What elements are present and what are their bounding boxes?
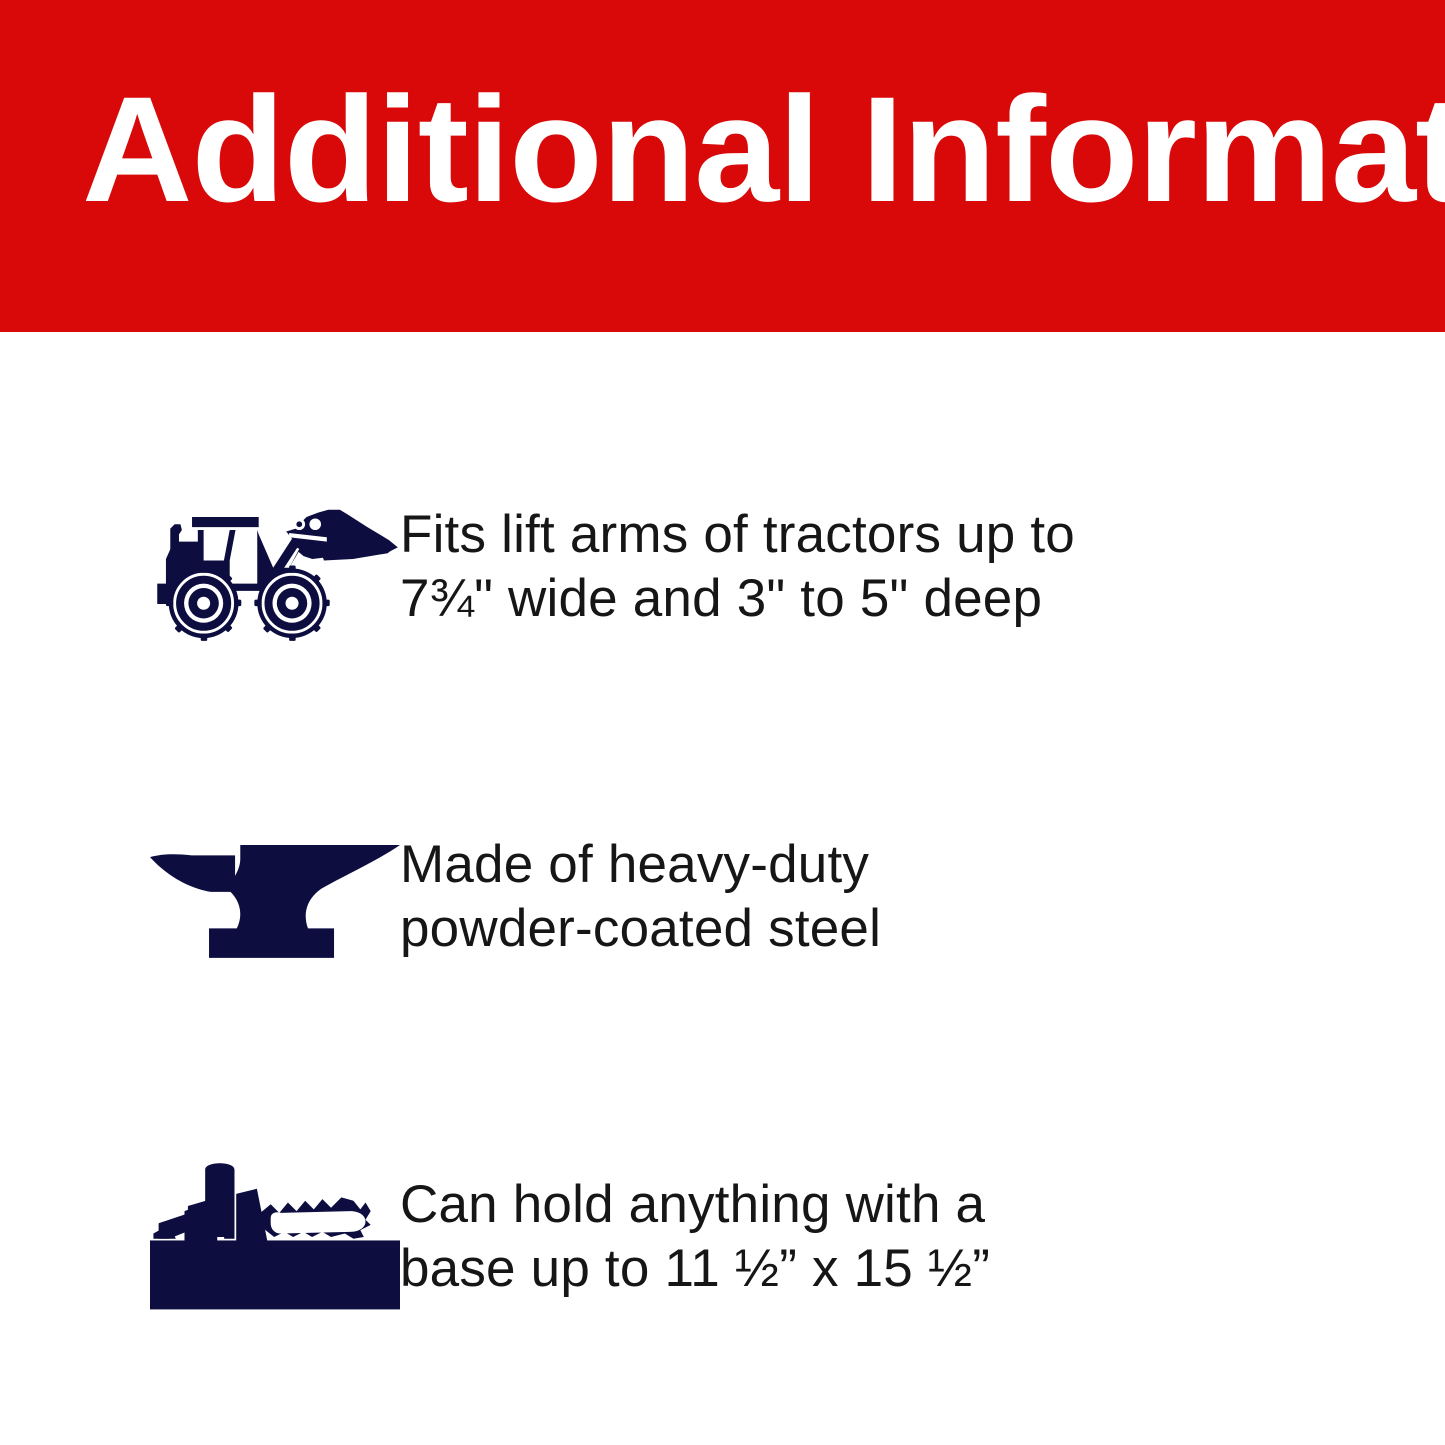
feature-row: Can hold anything with a base up to 11 ½… <box>0 1122 1445 1352</box>
feature-text-line: Fits lift arms of tractors up to <box>400 503 1445 567</box>
feature-text: Fits lift arms of tractors up to 7¾" wid… <box>400 503 1445 631</box>
additional-information-page: Additional Information <box>0 0 1445 1445</box>
feature-text-line: 7¾" wide and 3" to 5" deep <box>400 567 1445 631</box>
page-title: Additional Information <box>82 74 1398 224</box>
feature-text: Can hold anything with a base up to 11 ½… <box>400 1173 1445 1301</box>
feature-row: Fits lift arms of tractors up to 7¾" wid… <box>0 452 1445 682</box>
feature-text: Made of heavy-duty powder-coated steel <box>400 833 1445 961</box>
feature-text-line: base up to 11 ½” x 15 ½” <box>400 1237 1445 1301</box>
feature-text-line: powder-coated steel <box>400 897 1445 961</box>
feature-row: Made of heavy-duty powder-coated steel <box>0 792 1445 1002</box>
feature-text-line: Made of heavy-duty <box>400 833 1445 897</box>
header-banner: Additional Information <box>0 0 1445 332</box>
feature-text-line: Can hold anything with a <box>400 1173 1445 1237</box>
anvil-icon <box>0 792 400 1002</box>
tractor-loader-icon <box>0 452 400 682</box>
feature-list: Fits lift arms of tractors up to 7¾" wid… <box>0 332 1445 1445</box>
chainsaw-on-block-icon <box>0 1122 400 1352</box>
